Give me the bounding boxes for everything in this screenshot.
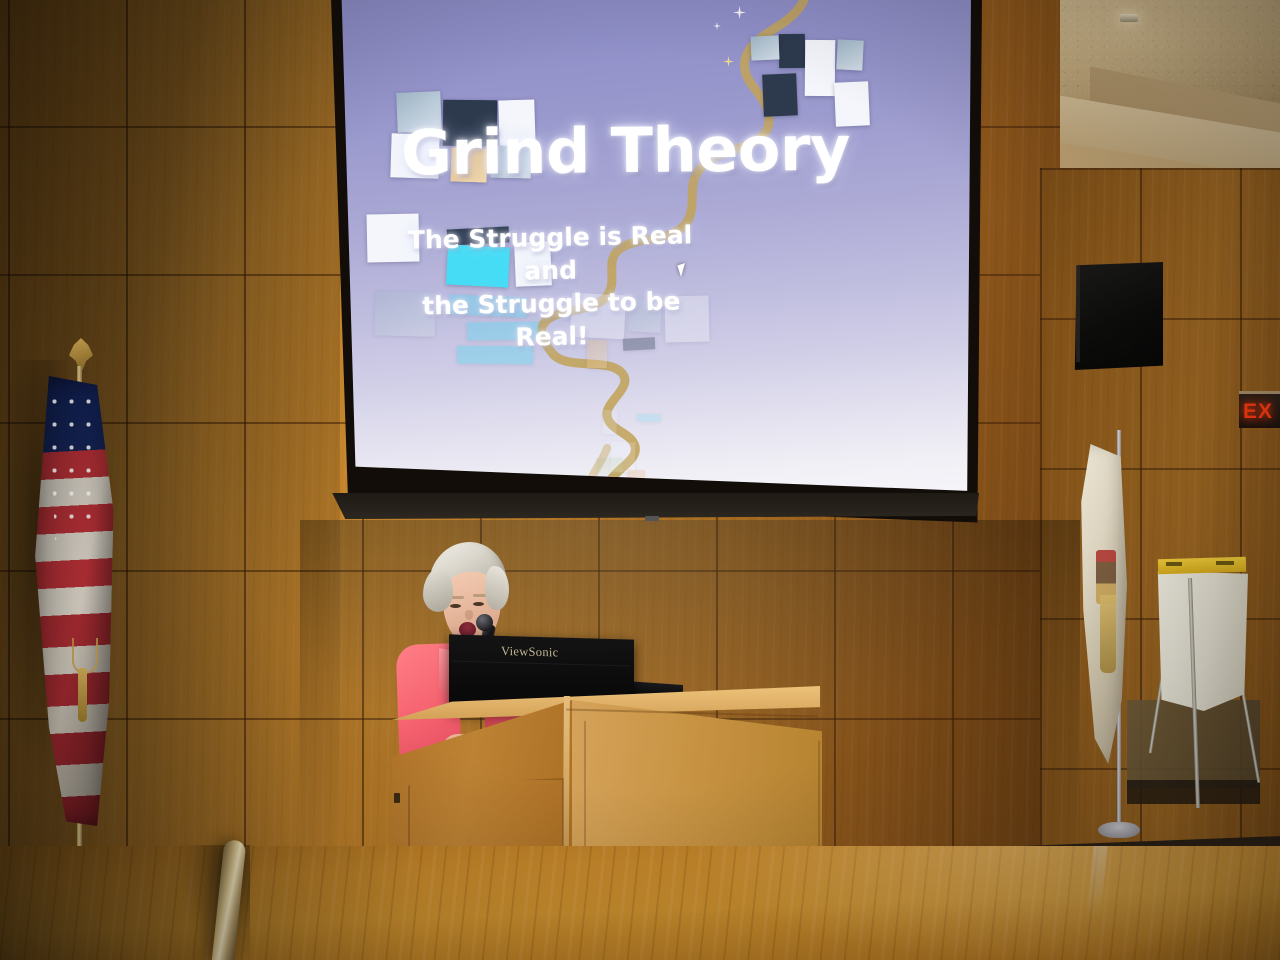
cluster-5-orange	[627, 470, 645, 478]
monitor-bezel-seam	[453, 661, 630, 667]
wall-speaker-bracket	[1076, 266, 1080, 362]
eye-left	[450, 604, 461, 608]
nose	[465, 610, 473, 620]
cluster-1-icon-card	[762, 73, 798, 116]
exit-sign: EX	[1239, 391, 1280, 428]
cluster-1-white-doc	[805, 40, 836, 96]
cluster-5-cyan	[637, 414, 661, 423]
screen-brand-badge	[645, 516, 659, 521]
cluster-1-microscope	[751, 35, 780, 60]
us-flag-stars	[46, 390, 102, 540]
cluster-1-dark-card	[779, 34, 805, 68]
us-flag	[24, 338, 136, 858]
wall-speaker-icon	[1073, 262, 1163, 370]
state-flag-fringe	[1100, 595, 1116, 673]
hair-bun	[423, 568, 453, 612]
flag-tassel	[78, 668, 87, 722]
cluster-1-portrait	[836, 39, 864, 70]
monitor-brand-label: ViewSonic	[501, 644, 559, 661]
flip-chart-paper	[1156, 571, 1248, 711]
eye-right	[473, 602, 484, 606]
exit-sign-label: EX	[1243, 400, 1273, 424]
projection-screen: Grind Theory The Struggle is Real and th…	[327, 0, 982, 536]
cluster-5-green	[597, 458, 623, 475]
slide-title: Grind Theory	[401, 112, 851, 190]
presentation-photo-scene: Grind Theory The Struggle is Real and th…	[0, 0, 1280, 960]
slide-subtitle-line-2: the Struggle to be Real!	[401, 284, 702, 356]
state-flag-base	[1098, 822, 1140, 838]
flip-chart-clip-left	[1166, 562, 1182, 566]
cluster-5-card-a	[602, 410, 617, 435]
floor-reflection-highlight	[700, 846, 1280, 960]
screen-surface: Grind Theory The Struggle is Real and th…	[339, 0, 971, 501]
slide-subtitle-line-1: The Struggle is Real and	[400, 218, 701, 290]
slide-subtitle: The Struggle is Real and the Struggle to…	[400, 218, 702, 356]
microphone-head-icon	[476, 614, 493, 631]
ceiling-downlight	[1120, 14, 1138, 22]
flip-chart-easel	[1150, 548, 1280, 848]
flip-chart-clip-right	[1216, 561, 1234, 565]
podium-latch	[394, 793, 400, 803]
